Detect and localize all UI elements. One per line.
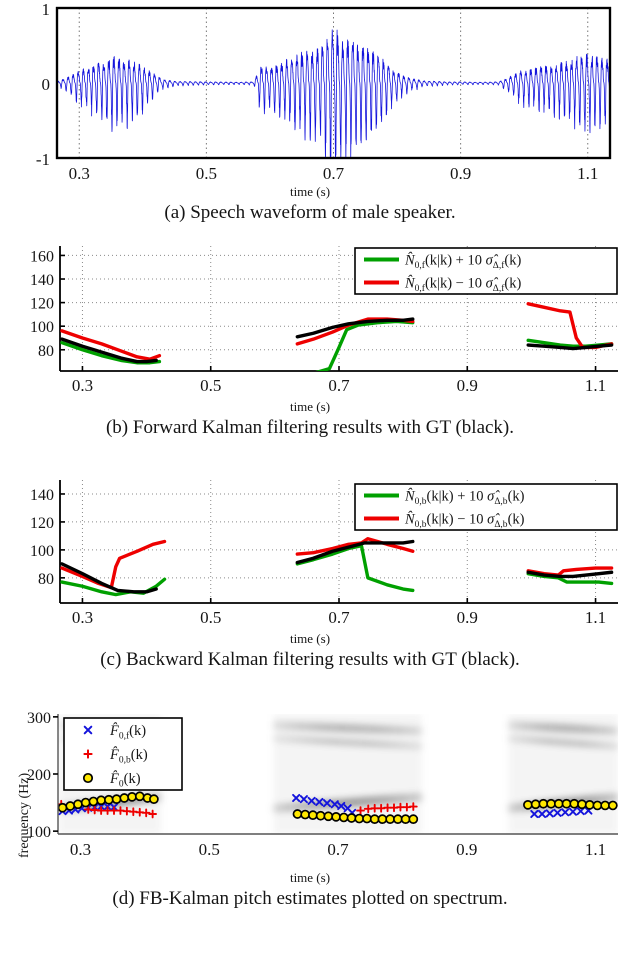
panel-d-caption: (d) FB-Kalman pitch estimates plotted on…	[0, 888, 620, 910]
panel-d-xtick: 0.7	[327, 840, 349, 859]
panel-d-xtick: 1.1	[585, 840, 606, 859]
panel_b-ytick: 160	[30, 248, 54, 265]
panel-b-caption: (b) Forward Kalman filtering results wit…	[0, 417, 620, 439]
panel-d: 1002003000.30.50.70.91.1F̂0,f(k)F̂0,b(k)…	[0, 706, 620, 910]
panel_c-legend: N̂0,b(k|k) + 10 σ̂Δ,b(k)N̂0,b(k|k) − 10 …	[355, 484, 617, 530]
panel-d-xtick: 0.5	[199, 840, 220, 859]
panel-c-xaxis-title: time (s)	[0, 631, 620, 647]
panel-a-ytick: -1	[36, 150, 50, 169]
figure-root: 10-10.30.50.70.91.1 time (s) (a) Speech …	[0, 0, 620, 976]
panel-a-xtick: 0.9	[450, 164, 471, 183]
panel-d-plot: 1002003000.30.50.70.91.1F̂0,f(k)F̂0,b(k)…	[0, 706, 620, 876]
panel-d-plot-wrap: 1002003000.30.50.70.91.1F̂0,f(k)F̂0,b(k)…	[0, 706, 620, 876]
series-ground-truth	[528, 572, 611, 576]
panel_c-xtick: 0.3	[72, 608, 93, 627]
legend-circle-marker	[84, 774, 92, 782]
panel_b-legend: N̂0,f(k|k) + 10 σ̂Δ,f(k)N̂0,f(k|k) − 10 …	[355, 248, 617, 294]
panel_c-ytick: 120	[30, 515, 54, 532]
panel-a-xtick: 1.1	[577, 164, 598, 183]
panel-b-plot: 801001201401600.30.50.70.91.1N̂0,f(k|k) …	[0, 238, 620, 403]
panel-a-ytick: 1	[42, 0, 51, 19]
panel_c-xtick: 0.7	[328, 608, 350, 627]
panel-d-ylabel: frequency (Hz)	[17, 773, 33, 858]
panel-a-xaxis-title: time (s)	[0, 184, 620, 200]
panel_b-ytick: 80	[38, 343, 54, 360]
panel-b-xaxis-title: time (s)	[0, 399, 620, 415]
panel_c-xtick: 0.9	[457, 608, 478, 627]
panel-d-xtick: 0.9	[456, 840, 477, 859]
panel-c: 801001201400.30.50.70.91.1N̂0,b(k|k) + 1…	[0, 472, 620, 671]
panel-c-plot: 801001201400.30.50.70.91.1N̂0,b(k|k) + 1…	[0, 472, 620, 635]
panel_b-xtick: 0.3	[72, 376, 93, 395]
panel_b-xtick: 0.9	[457, 376, 478, 395]
panel-a-ytick: 0	[42, 75, 51, 94]
panel-a: 10-10.30.50.70.91.1 time (s) (a) Speech …	[0, 0, 620, 224]
panel-a-xtick: 0.3	[69, 164, 90, 183]
panel-a-caption: (a) Speech waveform of male speaker.	[0, 202, 620, 224]
panel_b-xtick: 0.5	[200, 376, 221, 395]
panel_c-ytick: 140	[30, 487, 54, 504]
panel-c-caption: (c) Backward Kalman filtering results wi…	[0, 649, 620, 671]
panel-a-xtick: 0.7	[323, 164, 345, 183]
panel-d-legend: F̂0,f(k)F̂0,b(k)F̂0(k)	[64, 718, 182, 790]
panel_c-xtick: 1.1	[585, 608, 606, 627]
panel_c-ytick: 80	[38, 571, 54, 588]
panel-a-plot: 10-10.30.50.70.91.1	[0, 0, 620, 190]
panel_b-ytick: 140	[30, 272, 54, 289]
panel_c-xtick: 0.5	[200, 608, 221, 627]
panel_b-xtick: 0.7	[328, 376, 350, 395]
panel-b: 801001201401600.30.50.70.91.1N̂0,f(k|k) …	[0, 238, 620, 439]
panel_b-ytick: 100	[30, 319, 54, 336]
panel_b-xtick: 1.1	[585, 376, 606, 395]
series-upper-bound-green	[297, 321, 412, 375]
panel-d-ytick: 300	[27, 710, 51, 727]
panel_c-ytick: 100	[30, 543, 54, 560]
panel-d-xtick: 0.3	[70, 840, 91, 859]
panel-a-xtick: 0.5	[196, 164, 217, 183]
legend-label-fused-estimate: F̂0(k)	[109, 771, 141, 790]
panel_b-ytick: 120	[30, 296, 54, 313]
series-lower-bound-red	[62, 542, 165, 588]
